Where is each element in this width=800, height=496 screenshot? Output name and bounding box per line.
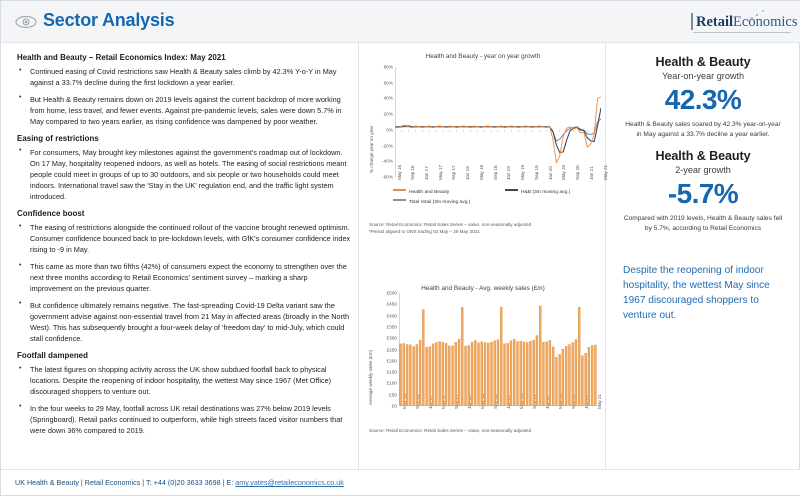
- bar-chart: Health and Beauty - Avg. weekly sales (£…: [365, 285, 601, 455]
- y-tick-label: 40%: [373, 96, 393, 101]
- y-tick-label: -20%: [373, 143, 393, 148]
- source-line-1: Source: Retail Economics: Retail Sales S…: [369, 222, 597, 229]
- line-chart-plot: [395, 67, 601, 177]
- report-page: Sector Analysis RetailEconomics Health a…: [0, 0, 800, 496]
- list-item: In the four weeks to 29 May, footfall ac…: [17, 403, 351, 436]
- legend-label: H&B (3m moving avg.): [521, 190, 570, 195]
- y-tick-label: £150: [373, 370, 397, 375]
- eye-icon: [15, 15, 37, 29]
- logo-word-retail: Retail: [696, 14, 733, 30]
- stat-subheading: Year-on-year growth: [613, 71, 793, 82]
- legend-swatch-steel: [393, 199, 406, 201]
- stat-block-2yr: Health & Beauty 2-year growth -5.7% Comp…: [613, 149, 793, 234]
- y-tick-label: £100: [373, 381, 397, 386]
- y-tick-label: £0: [373, 404, 397, 409]
- legend-swatch-orange: [393, 189, 406, 191]
- y-tick-label: -40%: [373, 159, 393, 164]
- stat-heading: Health & Beauty: [613, 55, 793, 70]
- stat-value: 42.3%: [613, 84, 793, 116]
- logo-text: RetailEconomics: [696, 14, 797, 31]
- list-item: Continued easing of Covid restrictions s…: [17, 66, 351, 88]
- y-tick-label: 0%: [373, 127, 393, 132]
- list-item: The easing of restrictions alongside the…: [17, 222, 351, 255]
- y-tick-label: £250: [373, 347, 397, 352]
- logo-underline: [693, 32, 791, 33]
- list-item: But confidence ultimately remains negati…: [17, 300, 351, 344]
- y-tick-label: 80%: [373, 65, 393, 70]
- legend-item-total-retail: Total retail (3m moving avg.): [393, 199, 470, 205]
- stat-value: -5.7%: [613, 178, 793, 210]
- source-line-2: *Period aligned to ONS trading 02 May – …: [369, 229, 597, 236]
- y-tick-label: £50: [373, 392, 397, 397]
- key-stats-column: Health & Beauty Year-on-year growth 42.3…: [613, 53, 793, 463]
- section-heading-confidence: Confidence boost: [17, 209, 351, 218]
- list-item: The latest figures on shopping activity …: [17, 364, 351, 397]
- section-heading-easing: Easing of restrictions: [17, 134, 351, 143]
- page-footer: UK Health & Beauty | Retail Economics | …: [1, 469, 800, 495]
- x-tick-label: May 21: [603, 165, 608, 180]
- y-tick-label: £500: [373, 291, 397, 296]
- line-chart-title: Health and Beauty - year on year growth: [365, 53, 601, 60]
- page-header: Sector Analysis RetailEconomics: [1, 1, 800, 43]
- pull-quote: Despite the reopening of indoor hospital…: [613, 264, 793, 324]
- y-tick-label: £350: [373, 324, 397, 329]
- stat-block-yoy: Health & Beauty Year-on-year growth 42.3…: [613, 55, 793, 140]
- stat-heading: Health & Beauty: [613, 149, 793, 164]
- x-tick-label: May 21: [597, 394, 602, 409]
- legend-item-hb-moving-avg: H&B (3m moving avg.): [505, 189, 570, 195]
- bar-chart-source: Source: Retail Economics: Retail Sales S…: [369, 428, 597, 435]
- y-tick-label: 20%: [373, 112, 393, 117]
- footfall-bullet-list: The latest figures on shopping activity …: [17, 364, 351, 436]
- list-item: For consumers, May brought key milestone…: [17, 147, 351, 202]
- y-tick-label: £450: [373, 302, 397, 307]
- line-chart-source: Source: Retail Economics: Retail Sales S…: [369, 222, 597, 235]
- charts-column: Health and Beauty - year on year growth …: [365, 53, 601, 463]
- section-heading-footfall: Footfall dampened: [17, 351, 351, 360]
- page-title: Sector Analysis: [43, 10, 174, 31]
- section-heading-main: Health and Beauty – Retail Economics Ind…: [17, 53, 351, 62]
- logo-bar: [691, 13, 693, 30]
- list-item: But Health & Beauty remains down on 2019…: [17, 94, 351, 127]
- easing-bullet-list: For consumers, May brought key milestone…: [17, 147, 351, 202]
- y-tick-label: £300: [373, 336, 397, 341]
- bar-chart-plot: [399, 293, 597, 406]
- stat-description: Health & Beauty sales soared by 42.3% ye…: [613, 120, 793, 140]
- source-line-1: Source: Retail Economics: Retail Sales S…: [369, 428, 597, 435]
- retail-economics-logo: RetailEconomics: [689, 10, 793, 36]
- line-chart: Health and Beauty - year on year growth …: [365, 53, 601, 243]
- y-tick-label: 60%: [373, 80, 393, 85]
- intro-bullet-list: Continued easing of Covid restrictions s…: [17, 66, 351, 127]
- legend-item-health-beauty: Health and Beauty: [393, 189, 449, 195]
- list-item: This came as more than two fifths (42%) …: [17, 261, 351, 294]
- column-divider-right: [605, 43, 606, 471]
- legend-label: Health and Beauty: [409, 190, 449, 195]
- y-tick-label: £400: [373, 313, 397, 318]
- logo-word-economics: Economics: [733, 14, 797, 30]
- footer-text-prefix: UK Health & Beauty | Retail Economics | …: [15, 478, 235, 487]
- line-chart-y-axis-label: % change year on year: [369, 126, 374, 173]
- stat-description: Compared with 2019 levels, Health & Beau…: [613, 214, 793, 234]
- column-divider-left: [358, 43, 359, 471]
- y-tick-label: -60%: [373, 175, 393, 180]
- bar-chart-title: Health and Beauty - Avg. weekly sales (£…: [365, 285, 601, 292]
- footer-email-link[interactable]: amy.yates@retaileconomics.co.uk: [235, 478, 344, 487]
- footer-contact: UK Health & Beauty | Retail Economics | …: [15, 478, 344, 487]
- y-tick-label: £200: [373, 358, 397, 363]
- analysis-text-column: Health and Beauty – Retail Economics Ind…: [17, 53, 351, 463]
- legend-label: Total retail (3m moving avg.): [409, 200, 470, 205]
- legend-swatch-navy: [505, 189, 518, 191]
- confidence-bullet-list: The easing of restrictions alongside the…: [17, 222, 351, 344]
- stat-subheading: 2-year growth: [613, 165, 793, 176]
